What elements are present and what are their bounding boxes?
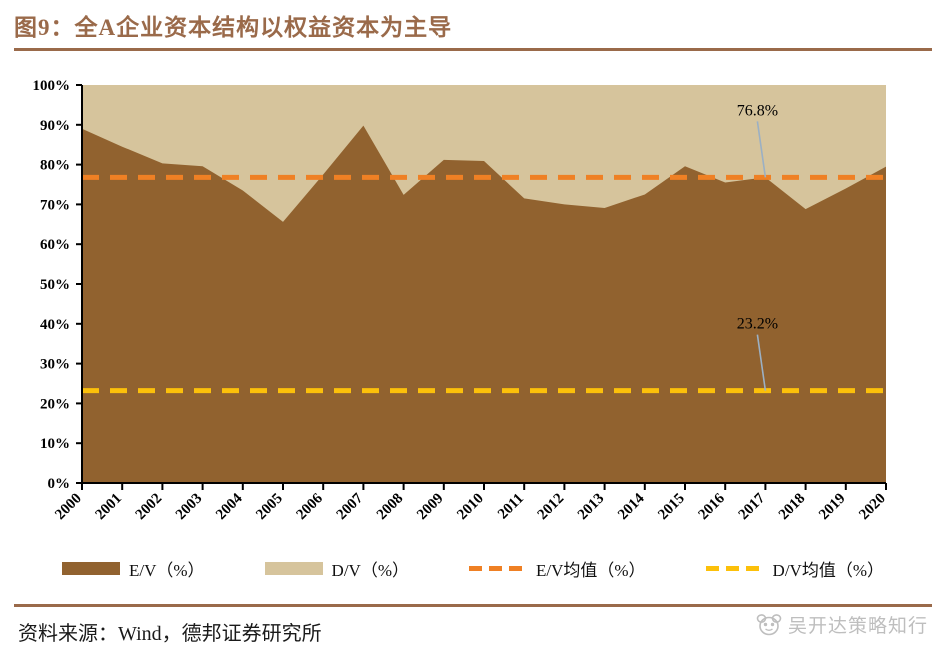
x-axis-tick-label: 2017 xyxy=(736,490,769,523)
legend-item[interactable]: E/V（%） xyxy=(62,556,205,581)
y-axis-tick-label: 40% xyxy=(40,317,70,333)
watermark: 吴开达策略知行 xyxy=(756,611,928,638)
x-axis-tick-label: 2019 xyxy=(816,491,849,524)
y-axis-tick-label: 100% xyxy=(33,78,71,94)
x-axis-tick-label: 2002 xyxy=(133,491,166,524)
x-axis-tick-label: 2011 xyxy=(495,491,527,523)
annotation-label: 76.8% xyxy=(737,102,778,119)
watermark-text: 吴开达策略知行 xyxy=(788,611,928,638)
x-axis-tick-label: 2012 xyxy=(535,491,568,524)
legend-swatch xyxy=(62,562,120,575)
legend-item[interactable]: D/V均值（%） xyxy=(706,556,884,581)
x-axis-tick-label: 2010 xyxy=(454,491,487,524)
footer-divider xyxy=(14,604,932,607)
y-axis-tick-label: 50% xyxy=(40,277,70,293)
x-axis-tick-label: 2001 xyxy=(93,491,126,524)
x-axis-tick-label: 2004 xyxy=(213,490,246,523)
legend-label: E/V均值（%） xyxy=(536,556,646,581)
chart-svg: 0%10%20%30%40%50%60%70%80%90%100% 200020… xyxy=(0,60,946,550)
x-axis-tick-marks xyxy=(82,483,886,490)
x-axis-tick-labels: 2000200120022003200420052006200720082009… xyxy=(52,490,889,523)
x-axis-tick-label: 2015 xyxy=(655,491,688,524)
y-axis-tick-label: 90% xyxy=(40,118,70,134)
legend-item[interactable]: D/V（%） xyxy=(265,556,409,581)
legend-swatch xyxy=(265,562,323,575)
chart-plot-area: 0%10%20%30%40%50%60%70%80%90%100% 200020… xyxy=(0,60,946,550)
x-axis-tick-label: 2000 xyxy=(52,491,85,524)
x-axis-tick-label: 2020 xyxy=(856,491,889,524)
y-axis-tick-label: 60% xyxy=(40,237,70,253)
y-axis-tick-label: 80% xyxy=(40,158,70,174)
legend-label: D/V均值（%） xyxy=(773,556,884,581)
y-axis-tick-label: 0% xyxy=(48,476,71,492)
x-axis-tick-label: 2003 xyxy=(173,491,206,524)
header-divider xyxy=(14,48,932,51)
legend-label: E/V（%） xyxy=(129,556,205,581)
x-axis-tick-label: 2014 xyxy=(615,490,648,523)
x-axis-tick-label: 2007 xyxy=(334,490,367,523)
x-axis-tick-label: 2013 xyxy=(575,491,608,524)
x-axis-tick-label: 2006 xyxy=(294,490,327,523)
y-axis-tick-labels: 0%10%20%30%40%50%60%70%80%90%100% xyxy=(33,78,71,492)
annotation-label: 23.2% xyxy=(737,316,778,333)
x-axis-tick-label: 2009 xyxy=(414,491,447,524)
x-axis-tick-label: 2018 xyxy=(776,491,809,524)
legend-label: D/V（%） xyxy=(332,556,409,581)
panda-icon xyxy=(756,614,782,636)
y-axis-tick-label: 10% xyxy=(40,436,70,452)
figure-title: 图9：全A企业资本结构以权益资本为主导 xyxy=(14,8,452,42)
y-axis-tick-label: 30% xyxy=(40,357,70,373)
legend-swatch xyxy=(469,566,527,571)
y-axis-tick-label: 20% xyxy=(40,396,70,412)
x-axis-tick-label: 2005 xyxy=(253,491,286,524)
y-axis-tick-label: 70% xyxy=(40,197,70,213)
legend-item[interactable]: E/V均值（%） xyxy=(469,556,646,581)
area-series-group xyxy=(82,85,886,483)
x-axis-tick-label: 2016 xyxy=(696,490,729,523)
legend-swatch xyxy=(706,566,764,571)
x-axis-tick-label: 2008 xyxy=(374,491,407,524)
chart-legend: E/V（%）D/V（%）E/V均值（%）D/V均值（%） xyxy=(0,548,946,588)
source-note: 资料来源：Wind，德邦证券研究所 xyxy=(18,617,322,646)
figure-root: 图9：全A企业资本结构以权益资本为主导 0%10%20%30%40%50%60%… xyxy=(0,0,946,657)
